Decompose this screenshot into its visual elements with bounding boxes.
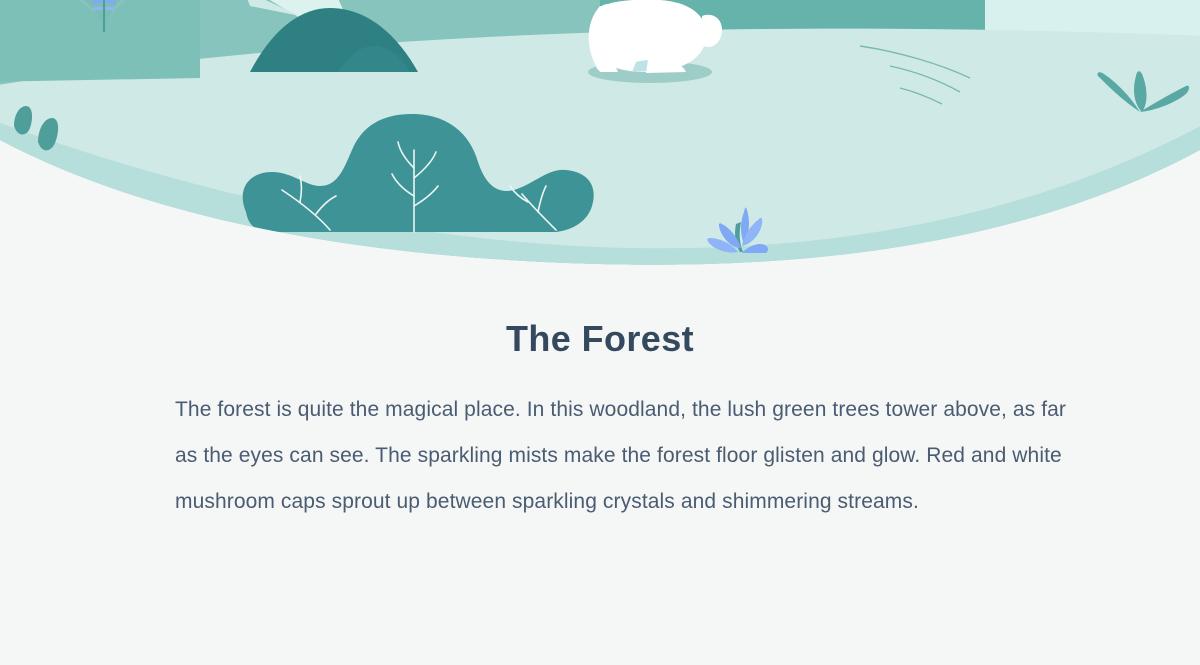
article-body: The forest is quite the magical place. I… [175, 361, 1077, 525]
article-paragraph: The forest is quite the magical place. I… [175, 387, 1077, 525]
page-title: The Forest [0, 316, 1200, 361]
article-section: The Forest The forest is quite the magic… [0, 268, 1200, 525]
hero-illustration [0, 0, 1200, 268]
forest-scene-illustration [0, 0, 1200, 268]
